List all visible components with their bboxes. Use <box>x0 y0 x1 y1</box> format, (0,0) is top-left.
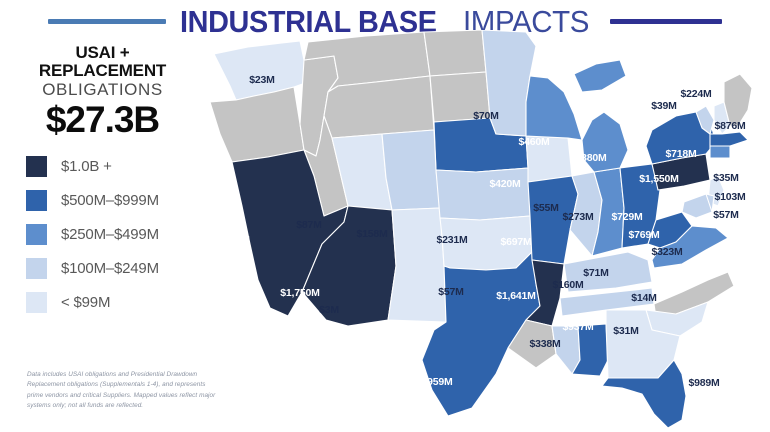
map-value-label-MA: $876M <box>714 120 745 132</box>
map-value-label-AR: $1,641M <box>496 290 535 302</box>
legend-label: $250M–$499M <box>61 226 159 243</box>
map-value-label-FL: $989M <box>688 377 719 389</box>
map-value-label-NE: $420M <box>489 178 520 190</box>
state-MA[interactable] <box>710 132 748 146</box>
map-value-label-MD: $57M <box>713 209 738 221</box>
state-ND[interactable] <box>424 30 486 76</box>
map-value-label-VA: $323M <box>651 246 682 258</box>
map-value-label-WV: $769M <box>628 229 659 241</box>
legend-swatch <box>26 258 47 279</box>
legend-row: $250M–$499M <box>26 223 205 246</box>
state-CO[interactable] <box>382 130 440 210</box>
legend-row: $100M–$249M <box>26 257 205 280</box>
map-value-label-MO: $697M <box>500 236 531 248</box>
legend-row: $1.0B + <box>26 155 205 178</box>
kicker-line-2: REPLACEMENT <box>8 62 197 80</box>
state-MD[interactable] <box>682 194 712 218</box>
summary-heading: USAI + REPLACEMENT OBLIGATIONS $27.3B <box>0 44 205 139</box>
state-KS[interactable] <box>436 168 530 220</box>
map-value-label-TX: $959M <box>421 376 452 388</box>
map-value-label-OK: $57M <box>438 286 463 298</box>
legend-label: < $99M <box>61 294 110 311</box>
legend-swatch <box>26 156 47 177</box>
map-value-label-IL: $273M <box>562 211 593 223</box>
map-value-label-KS: $231M <box>436 234 467 246</box>
map-value-label-NM: $3M <box>319 304 339 316</box>
map-value-label-NY: $718M <box>665 148 696 160</box>
map-value-label-IA: $55M <box>533 202 558 214</box>
legend-label: $500M–$999M <box>61 192 159 209</box>
map-value-label-WI: $460M <box>518 136 549 148</box>
map-value-label-MI: $380M <box>575 152 606 164</box>
map-value-label-IN: $71M <box>583 267 608 279</box>
us-choropleth-map: $23M$1,319M$1,750M$87M$158M$3M$959M$57M$… <box>196 30 770 432</box>
legend-swatch <box>26 190 47 211</box>
map-value-label-KY: $160M <box>552 279 583 291</box>
map-value-label-CO: $158M <box>356 228 387 240</box>
kicker-line-1: USAI + <box>8 44 197 62</box>
map-value-label-VT: $39M <box>651 100 676 112</box>
header-rule-left <box>48 19 166 24</box>
state-ME[interactable] <box>724 74 752 126</box>
header-rule-right <box>610 19 722 24</box>
map-value-label-MN: $70M <box>473 110 498 122</box>
state-WI[interactable] <box>526 76 582 140</box>
map-value-label-GA: $31M <box>613 325 638 337</box>
map-value-label-CT: $35M <box>713 172 738 184</box>
map-value-label-AL: $937M <box>562 321 593 333</box>
map-value-label-NJ: $103M <box>714 191 745 203</box>
total-obligations-value: $27.3B <box>8 101 197 139</box>
map-value-label-UT: $87M <box>296 219 321 231</box>
map-value-label-SC: $14M <box>631 292 656 304</box>
map-value-label-CA: $1,319M <box>210 234 249 246</box>
legend-row: < $99M <box>26 291 205 314</box>
map-value-label-OH: $729M <box>611 211 642 223</box>
map-value-label-MS: $338M <box>529 338 560 350</box>
legend-label: $1.0B + <box>61 158 112 175</box>
legend-swatch <box>26 224 47 245</box>
map-value-label-AZ: $1,750M <box>280 287 319 299</box>
legend-swatch <box>26 292 47 313</box>
obligations-label: OBLIGATIONS <box>8 80 197 100</box>
state-CT[interactable] <box>710 146 730 158</box>
legend-row: $500M–$999M <box>26 189 205 212</box>
state-OR[interactable] <box>210 87 304 162</box>
map-value-label-WA: $23M <box>249 74 274 86</box>
footnote: Data includes USAI obligations and Presi… <box>27 370 223 412</box>
map-value-label-NH: $224M <box>680 88 711 100</box>
infographic-root: INDUSTRIAL BASE IMPACTS USAI + REPLACEME… <box>0 0 770 432</box>
state-NM[interactable] <box>388 208 446 322</box>
map-value-label-PA: $1,550M <box>639 173 678 185</box>
legend: $1.0B +$500M–$999M$250M–$499M$100M–$249M… <box>0 155 205 314</box>
legend-label: $100M–$249M <box>61 260 159 277</box>
state-WY[interactable] <box>324 76 434 138</box>
